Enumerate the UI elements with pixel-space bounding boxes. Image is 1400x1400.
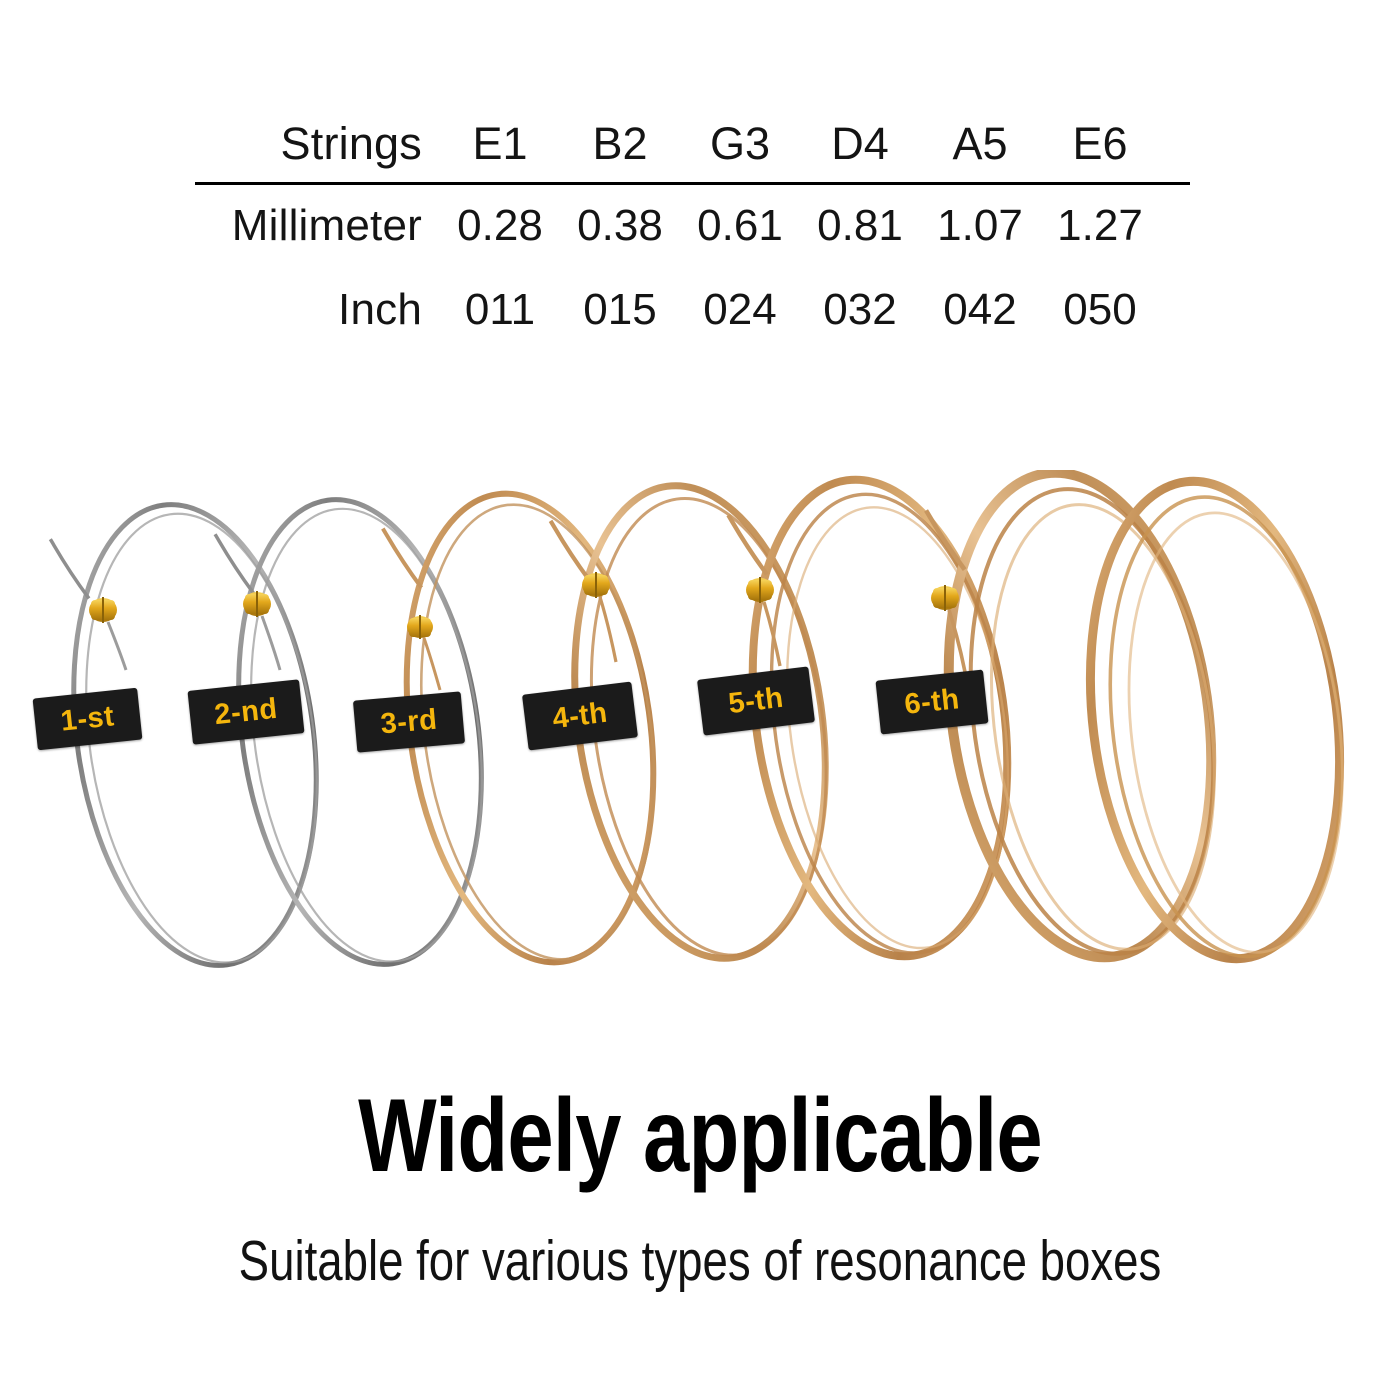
spec-cell-inch-2: 024 xyxy=(680,285,800,335)
spec-header-col-0: E1 xyxy=(440,118,560,170)
page-subtitle: Suitable for various types of resonance … xyxy=(140,1228,1260,1294)
spec-cell-inch-3: 032 xyxy=(800,285,920,335)
spec-header-col-2: G3 xyxy=(680,118,800,170)
spec-table-header-row: Strings E1 B2 G3 D4 A5 E6 xyxy=(195,118,1190,170)
spec-header-col-5: E6 xyxy=(1040,118,1160,170)
ball-end-1 xyxy=(89,597,126,670)
spec-cell-mm-2: 0.61 xyxy=(680,201,800,251)
spec-header-col-4: A5 xyxy=(920,118,1040,170)
spec-cell-mm-1: 0.38 xyxy=(560,201,680,251)
spec-row-millimeter: Millimeter 0.28 0.38 0.61 0.81 1.07 1.27 xyxy=(195,201,1190,251)
ball-end-2 xyxy=(243,591,280,670)
spec-header-row-label: Strings xyxy=(195,118,440,170)
spec-cell-mm-3: 0.81 xyxy=(800,201,920,251)
spec-cell-inch-4: 042 xyxy=(920,285,1040,335)
guitar-strings-product-photo: 1-st 2-nd 3-rd 4-th 5-th 6-th xyxy=(0,470,1400,1030)
string-tag-6-label: 6-th xyxy=(903,683,961,722)
spec-cell-inch-1: 015 xyxy=(560,285,680,335)
string-tag-3-label: 3-rd xyxy=(379,703,438,741)
string-tag-2-label: 2-nd xyxy=(213,692,279,731)
spec-row-label-millimeter: Millimeter xyxy=(195,201,440,251)
spec-cell-mm-0: 0.28 xyxy=(440,201,560,251)
spec-table-divider xyxy=(195,182,1190,185)
spec-row-label-inch: Inch xyxy=(195,285,440,335)
spec-cell-mm-4: 1.07 xyxy=(920,201,1040,251)
string-tag-4-label: 4-th xyxy=(551,696,610,735)
spec-cell-inch-0: 011 xyxy=(440,285,560,335)
spec-row-inch: Inch 011 015 024 032 042 050 xyxy=(195,285,1190,335)
string-coil-6-outer xyxy=(1065,470,1367,973)
spec-header-col-1: B2 xyxy=(560,118,680,170)
string-tag-1-label: 1-st xyxy=(59,700,116,738)
string-tag-6: 6-th xyxy=(875,670,988,735)
spec-cell-mm-5: 1.27 xyxy=(1040,201,1160,251)
string-tag-3: 3-rd xyxy=(353,691,465,752)
page-headline: Widely applicable xyxy=(140,1082,1260,1191)
string-tag-1: 1-st xyxy=(33,688,143,751)
spec-cell-inch-5: 050 xyxy=(1040,285,1160,335)
spec-header-col-3: D4 xyxy=(800,118,920,170)
string-tag-5-label: 5-th xyxy=(727,681,786,720)
spec-table: Strings E1 B2 G3 D4 A5 E6 Millimeter 0.2… xyxy=(195,118,1190,335)
